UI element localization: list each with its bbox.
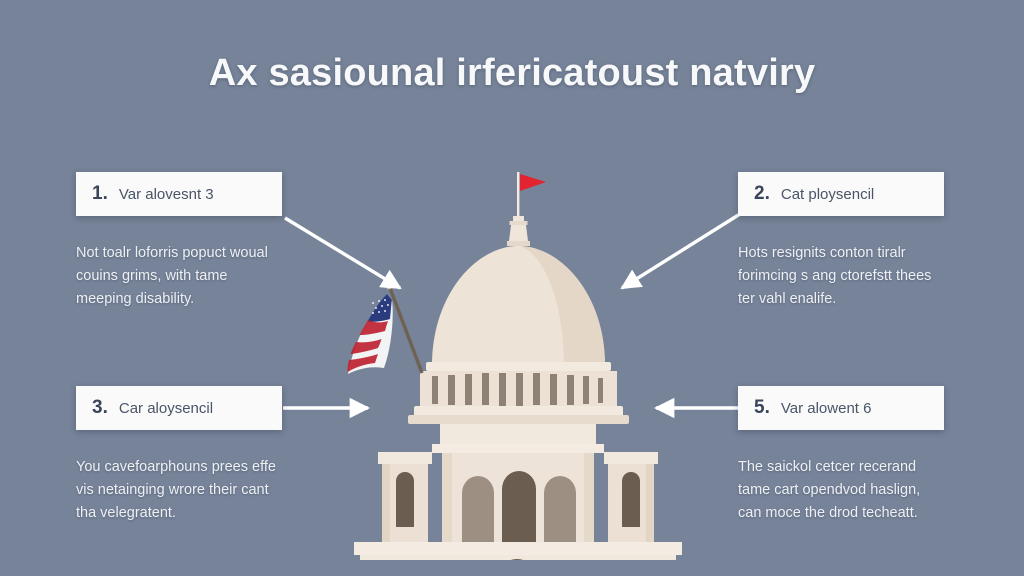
- page-title: Ax sasiounal irfericatoust natviry: [0, 52, 1024, 95]
- callout-4-number: 5.: [754, 397, 770, 419]
- callout-4-title: Var alowent 6: [781, 400, 872, 417]
- callout-2[interactable]: 2. Cat ploysencil Hots resignits conton …: [738, 172, 944, 311]
- callout-1-header[interactable]: 1. Var alovesnt 3: [76, 172, 282, 216]
- callout-1-number: 1.: [92, 183, 108, 205]
- callout-3-number: 3.: [92, 397, 108, 419]
- callout-3-header[interactable]: 3. Car aloysencil: [76, 386, 282, 430]
- left-tower: [378, 452, 432, 550]
- callout-2-title: Cat ploysencil: [781, 186, 874, 203]
- us-flag: [348, 283, 423, 374]
- callout-1-title: Var alovesnt 3: [119, 186, 214, 203]
- dome-cupola: [507, 216, 530, 246]
- callout-1[interactable]: 1. Var alovesnt 3 Not toalr loforris pop…: [76, 172, 282, 311]
- infographic-canvas: Ax sasiounal irfericatoust natviry: [0, 0, 1024, 576]
- building-base: [354, 542, 682, 560]
- dome-colonnade: [408, 371, 629, 424]
- capitol-building-illustration: [332, 160, 704, 560]
- callout-1-body: Not toalr loforris popuct woual couins g…: [76, 242, 282, 311]
- callout-3[interactable]: 3. Car aloysencil You cavefoarphouns pre…: [76, 386, 282, 525]
- callout-4-header[interactable]: 5. Var alowent 6: [738, 386, 944, 430]
- callout-2-number: 2.: [754, 183, 770, 205]
- callout-3-body: You cavefoarphouns prees effe vis netain…: [76, 456, 282, 525]
- dome-pennant-flag: [517, 172, 546, 218]
- callout-4[interactable]: 5. Var alowent 6 The saickol cetcer rece…: [738, 386, 944, 525]
- callout-2-body: Hots resignits conton tiralr forimcing s…: [738, 242, 944, 311]
- callout-4-body: The saickol cetcer recerand tame cart op…: [738, 456, 944, 525]
- dome: [426, 246, 611, 371]
- callout-3-title: Car aloysencil: [119, 400, 213, 417]
- central-portico: [432, 424, 604, 555]
- callout-2-header[interactable]: 2. Cat ploysencil: [738, 172, 944, 216]
- right-tower: [604, 452, 658, 550]
